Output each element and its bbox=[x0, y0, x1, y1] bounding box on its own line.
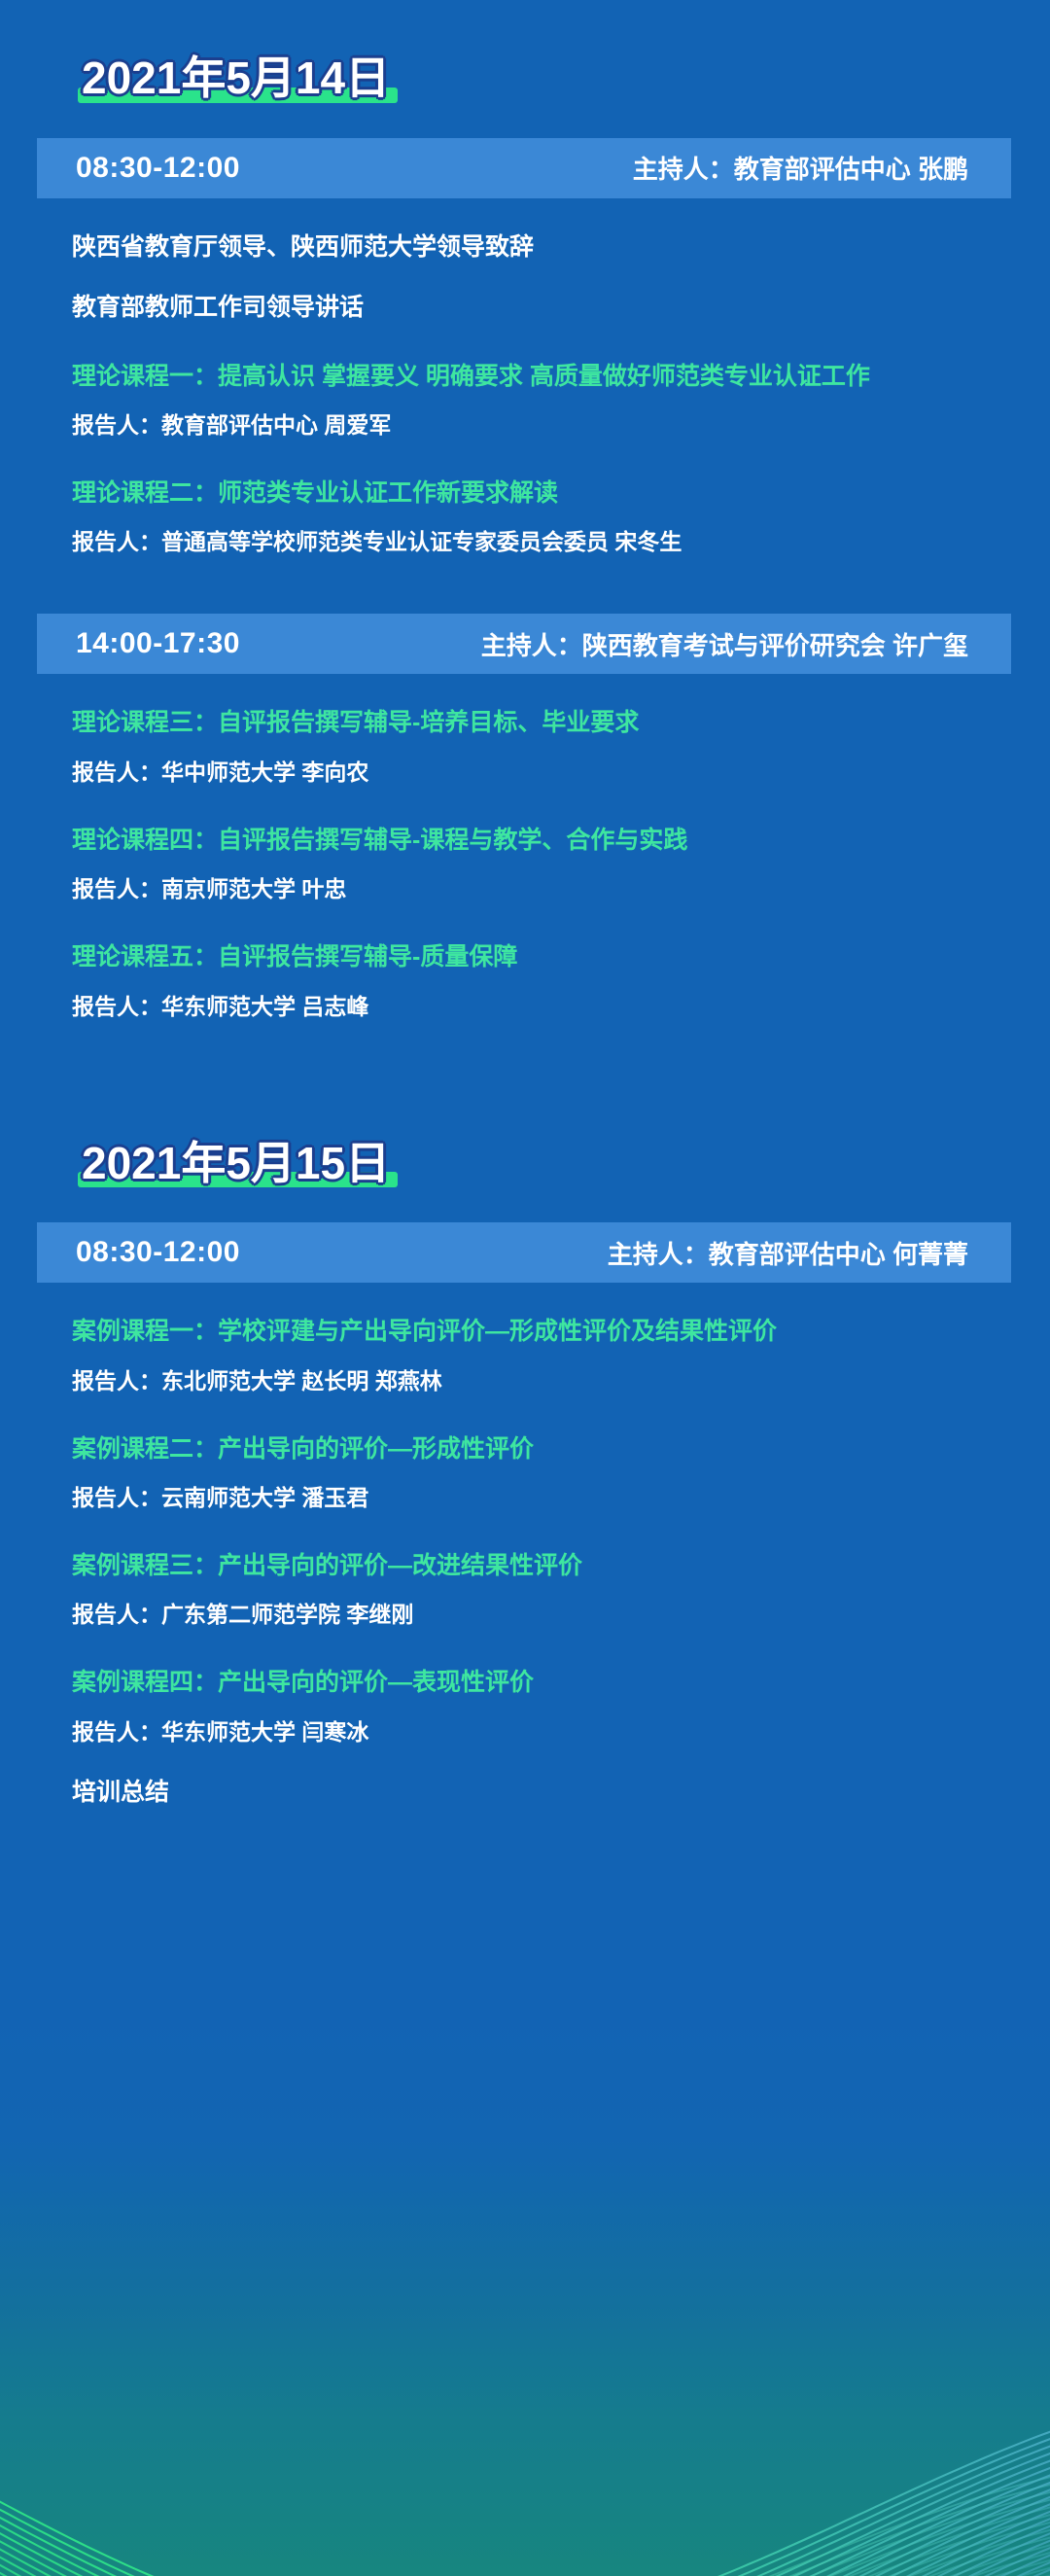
course-speaker: 报告人：南京师范大学 叶忠 bbox=[72, 875, 1011, 904]
day-date-heading: 2021年5月14日 bbox=[76, 53, 396, 105]
agenda-course-item: 理论课程三：自评报告撰写辅导-培养目标、毕业要求报告人：华中师范大学 李向农 bbox=[72, 707, 1011, 787]
course-title: 理论课程一：提高认识 掌握要义 明确要求 高质量做好师范类专业认证工作 bbox=[72, 361, 1011, 393]
course-title: 理论课程三：自评报告撰写辅导-培养目标、毕业要求 bbox=[72, 707, 1011, 739]
agenda-course-item: 理论课程五：自评报告撰写辅导-质量保障报告人：华东师范大学 吕志峰 bbox=[72, 941, 1011, 1021]
session-item-list: 陕西省教育厅领导、陕西师范大学领导致辞教育部教师工作司领导讲话理论课程一：提高认… bbox=[0, 231, 1050, 558]
course-speaker: 报告人：华中师范大学 李向农 bbox=[72, 759, 1011, 788]
agenda-plain-item: 培训总结 bbox=[72, 1777, 1011, 1809]
course-speaker: 报告人：东北师范大学 赵长明 郑燕林 bbox=[72, 1367, 1011, 1396]
agenda-course-item: 理论课程二：师范类专业认证工作新要求解读报告人：普通高等学校师范类专业认证专家委… bbox=[72, 477, 1011, 557]
session-host: 主持人：陕西教育考试与评价研究会 许广玺 bbox=[481, 626, 968, 662]
course-speaker: 报告人：华东师范大学 闫寒冰 bbox=[72, 1718, 1011, 1747]
agenda-plain-item: 陕西省教育厅领导、陕西师范大学领导致辞 bbox=[72, 231, 1011, 264]
session-time: 14:00-17:30 bbox=[76, 627, 240, 660]
schedule-poster: 2021年5月14日08:30-12:00主持人：教育部评估中心 张鹏陕西省教育… bbox=[0, 0, 1050, 2576]
course-title: 案例课程一：学校评建与产出导向评价—形成性评价及结果性评价 bbox=[72, 1316, 1011, 1348]
course-title: 理论课程五：自评报告撰写辅导-质量保障 bbox=[72, 941, 1011, 973]
date-text: 2021年5月15日 bbox=[76, 1139, 396, 1190]
session-item-list: 案例课程一：学校评建与产出导向评价—形成性评价及结果性评价报告人：东北师范大学 … bbox=[0, 1316, 1050, 1808]
date-text: 2021年5月14日 bbox=[76, 53, 396, 105]
day-date-heading: 2021年5月15日 bbox=[76, 1139, 396, 1190]
session-time: 08:30-12:00 bbox=[76, 152, 240, 185]
course-speaker: 报告人：云南师范大学 潘玉君 bbox=[72, 1484, 1011, 1513]
course-speaker: 报告人：普通高等学校师范类专业认证专家委员会委员 宋冬生 bbox=[72, 528, 1011, 557]
course-title: 案例课程二：产出导向的评价—形成性评价 bbox=[72, 1433, 1011, 1465]
course-speaker: 报告人：广东第二师范学院 李继刚 bbox=[72, 1601, 1011, 1630]
session-header-bar: 14:00-17:30主持人：陕西教育考试与评价研究会 许广玺 bbox=[37, 614, 1011, 674]
agenda-course-item: 案例课程三：产出导向的评价—改进结果性评价报告人：广东第二师范学院 李继刚 bbox=[72, 1550, 1011, 1630]
agenda-course-item: 理论课程四：自评报告撰写辅导-课程与教学、合作与实践报告人：南京师范大学 叶忠 bbox=[72, 825, 1011, 904]
course-title: 理论课程四：自评报告撰写辅导-课程与教学、合作与实践 bbox=[72, 825, 1011, 857]
agenda-course-item: 理论课程一：提高认识 掌握要义 明确要求 高质量做好师范类专业认证工作报告人：教… bbox=[72, 361, 1011, 441]
session-header-bar: 08:30-12:00主持人：教育部评估中心 张鹏 bbox=[37, 138, 1011, 198]
session-item-list: 理论课程三：自评报告撰写辅导-培养目标、毕业要求报告人：华中师范大学 李向农理论… bbox=[0, 707, 1050, 1021]
agenda-course-item: 案例课程二：产出导向的评价—形成性评价报告人：云南师范大学 潘玉君 bbox=[72, 1433, 1011, 1513]
course-title: 案例课程三：产出导向的评价—改进结果性评价 bbox=[72, 1550, 1011, 1582]
course-title: 理论课程二：师范类专业认证工作新要求解读 bbox=[72, 477, 1011, 510]
session-header-bar: 08:30-12:00主持人：教育部评估中心 何菁菁 bbox=[37, 1222, 1011, 1283]
session-host: 主持人：教育部评估中心 张鹏 bbox=[633, 150, 968, 186]
poster-content: 2021年5月14日08:30-12:00主持人：教育部评估中心 张鹏陕西省教育… bbox=[0, 0, 1050, 1808]
session-time: 08:30-12:00 bbox=[76, 1236, 240, 1269]
course-title: 案例课程四：产出导向的评价—表现性评价 bbox=[72, 1667, 1011, 1699]
agenda-plain-item: 教育部教师工作司领导讲话 bbox=[72, 292, 1011, 324]
course-speaker: 报告人：华东师范大学 吕志峰 bbox=[72, 993, 1011, 1022]
course-speaker: 报告人：教育部评估中心 周爱军 bbox=[72, 411, 1011, 441]
days-container: 2021年5月14日08:30-12:00主持人：教育部评估中心 张鹏陕西省教育… bbox=[0, 0, 1050, 1808]
session-host: 主持人：教育部评估中心 何菁菁 bbox=[608, 1235, 968, 1271]
agenda-course-item: 案例课程一：学校评建与产出导向评价—形成性评价及结果性评价报告人：东北师范大学 … bbox=[72, 1316, 1011, 1395]
agenda-course-item: 案例课程四：产出导向的评价—表现性评价报告人：华东师范大学 闫寒冰 bbox=[72, 1667, 1011, 1747]
